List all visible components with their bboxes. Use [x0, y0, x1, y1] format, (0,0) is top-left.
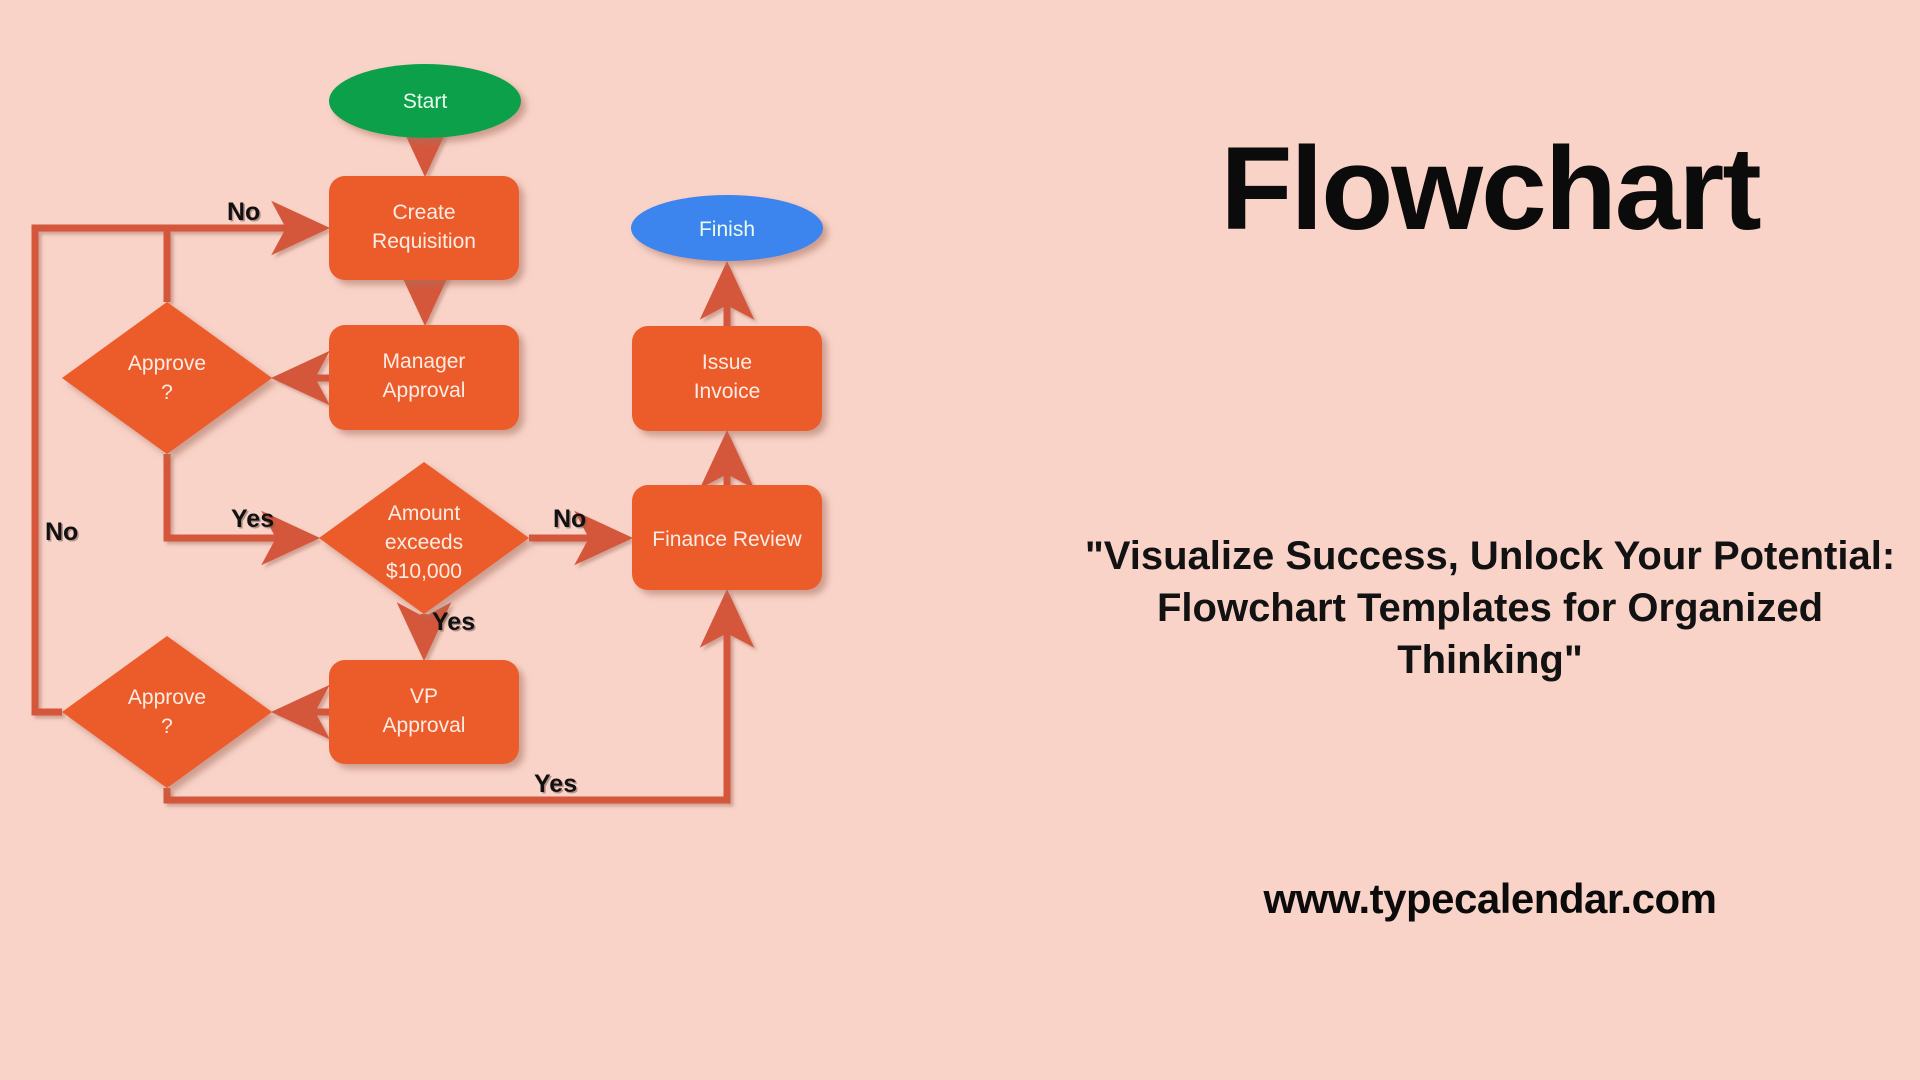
node-start[interactable] — [329, 64, 521, 138]
node-issue-invoice[interactable] — [632, 326, 822, 431]
flowchart-svg — [0, 0, 1060, 1080]
node-manager-approval[interactable] — [329, 325, 519, 430]
node-finance-review[interactable] — [632, 485, 822, 590]
node-approve-decision-2[interactable] — [62, 636, 272, 788]
poster-canvas: Start Create Requisition Approve ? Manag… — [0, 0, 1920, 1080]
edge-approve1-yes-to-amount — [167, 454, 313, 538]
poster-text-panel: Flowchart "Visualize Success, Unlock You… — [1060, 0, 1920, 1080]
node-finish[interactable] — [631, 195, 823, 261]
node-vp-approval[interactable] — [329, 660, 519, 764]
edge-approve2-no-loop — [35, 228, 167, 712]
node-group — [62, 64, 823, 788]
tagline-text: "Visualize Success, Unlock Your Potentia… — [1080, 530, 1900, 686]
website-url: www.typecalendar.com — [1080, 875, 1900, 923]
node-amount-decision[interactable] — [319, 462, 529, 614]
node-approve-decision-1[interactable] — [62, 302, 272, 454]
node-create-requisition[interactable] — [329, 176, 519, 280]
edge-approve1-no-to-create — [167, 228, 323, 302]
flowchart-diagram: Start Create Requisition Approve ? Manag… — [0, 0, 1060, 1080]
page-title: Flowchart — [1060, 130, 1920, 248]
